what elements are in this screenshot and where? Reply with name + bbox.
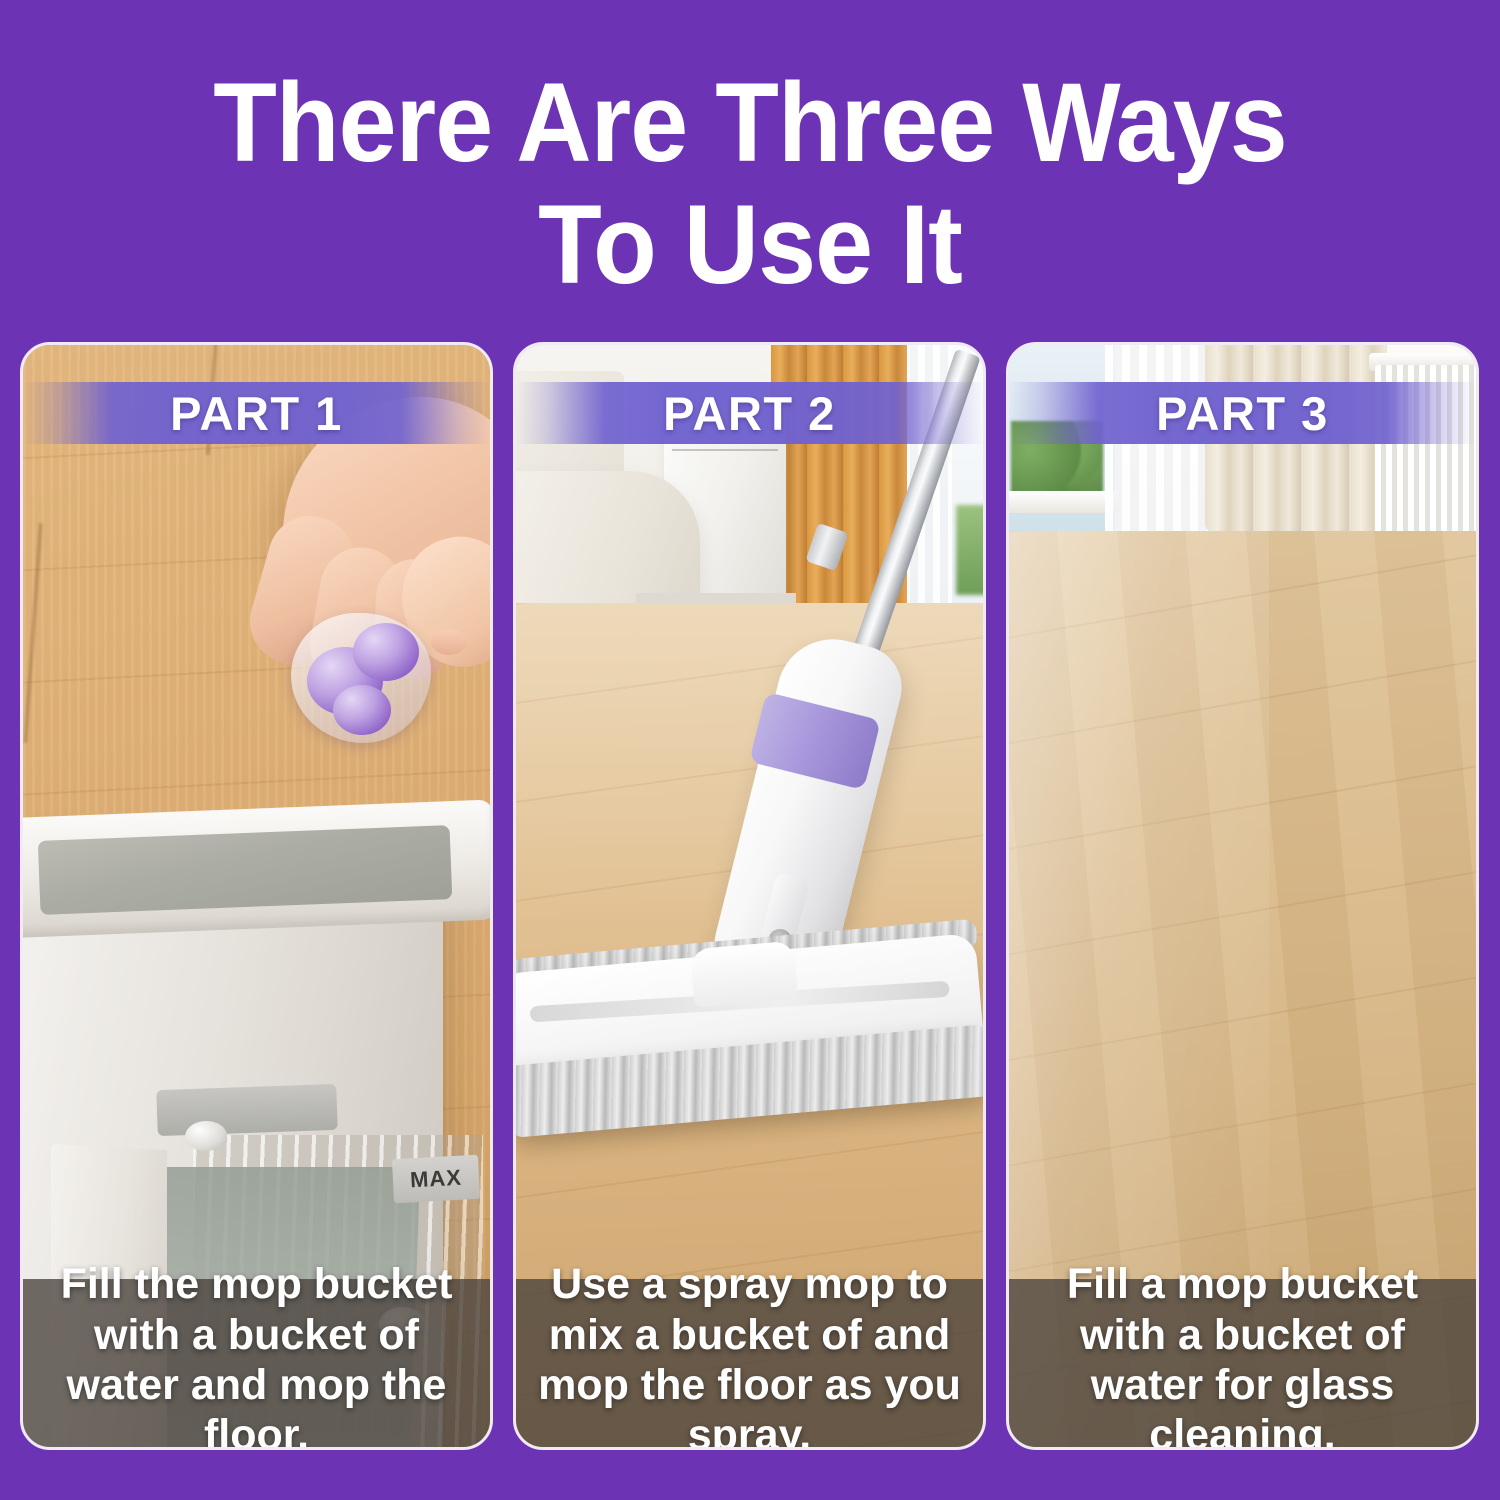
badge-part-2-label: PART 2 [663, 386, 836, 441]
window-sill [1009, 491, 1119, 513]
detergent-pod [291, 613, 431, 743]
page-title: There Are Three Ways To Use It [53, 62, 1448, 306]
pod-lobe [333, 685, 391, 735]
pod-lobe [353, 623, 419, 681]
step-panel-part-3: PART 3 Fill a mop bucket with a bucket o… [1006, 342, 1479, 1450]
bucket-rim [23, 799, 490, 938]
badge-part-2: PART 2 [516, 382, 983, 444]
caption-part-3: Fill a mop bucket with a bucket of water… [1007, 1279, 1478, 1449]
bucket-rim-inner [38, 825, 453, 915]
badge-part-1-label: PART 1 [170, 386, 343, 441]
steps-panel-group: MAX PART 1 Fill the mop bucket [20, 342, 1480, 1450]
caption-part-2: Use a spray mop to mix a bucket of and m… [514, 1279, 985, 1449]
window-greenery [956, 505, 983, 595]
max-fill-label: MAX [392, 1155, 480, 1203]
badge-part-3: PART 3 [1009, 382, 1476, 444]
fingernail [431, 629, 467, 655]
caption-part-3-text: Fill a mop bucket with a bucket of water… [1021, 1259, 1464, 1450]
badge-part-1: PART 1 [23, 382, 490, 444]
max-fill-label-text: MAX [409, 1165, 462, 1194]
badge-part-3-label: PART 3 [1156, 386, 1329, 441]
mop-head-swivel-knob [690, 941, 799, 1008]
step-panel-part-2: PART 2 Use a spray mop to mix a bucket o… [513, 342, 986, 1450]
caption-part-2-text: Use a spray mop to mix a bucket of and m… [528, 1259, 971, 1450]
step-panel-part-1: MAX PART 1 Fill the mop bucket [20, 342, 493, 1450]
caption-part-1: Fill the mop bucket with a bucket of wat… [21, 1279, 492, 1449]
caption-part-1-text: Fill the mop bucket with a bucket of wat… [35, 1259, 478, 1450]
bucket-grey-tab [156, 1084, 337, 1136]
